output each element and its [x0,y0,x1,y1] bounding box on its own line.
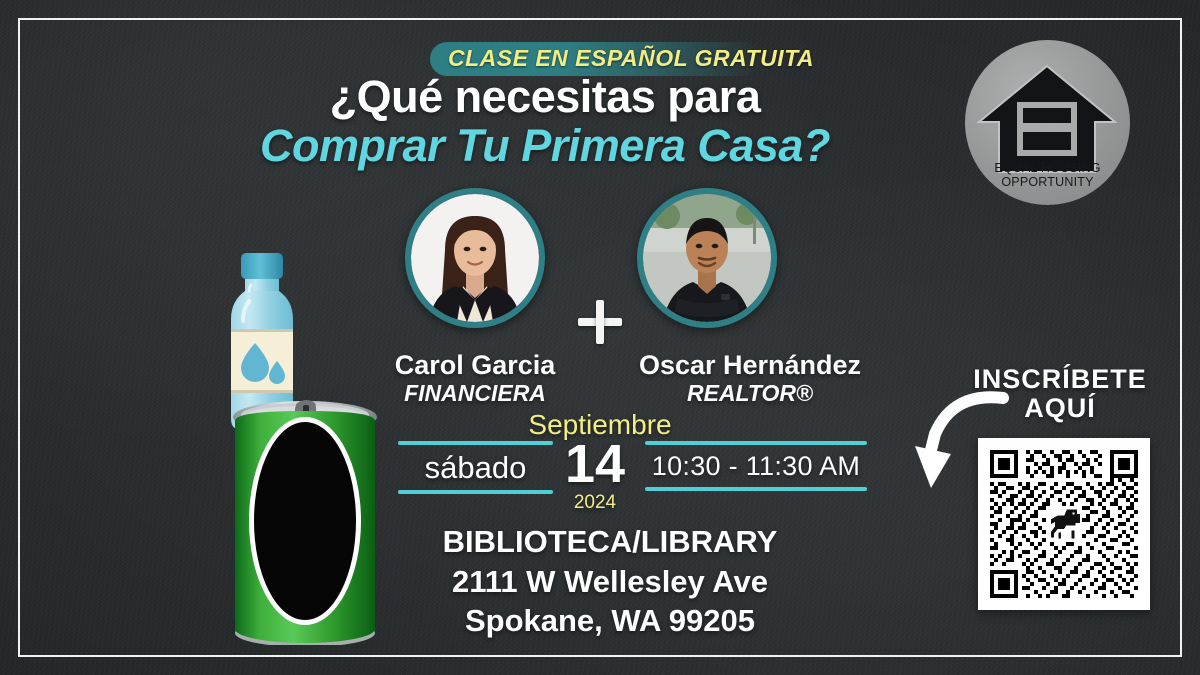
rule-bottom-dayname [398,490,553,494]
food-and-drinks-illustration: Comida y Bebidas incluidas! [205,245,405,645]
dinosaur-icon [1046,506,1082,542]
registration-qr-code[interactable] [978,438,1150,610]
soda-can-icon [233,400,377,645]
avatar-image-carol [411,194,539,322]
venue-line-3: Spokane, WA 99205 [360,601,860,641]
venue-address: BIBLIOTECA/LIBRARY 2111 W Wellesley Ave … [360,522,860,641]
eho-line-2: OPPORTUNITY [965,176,1130,190]
venue-line-2: 2111 W Wellesley Ave [360,562,860,602]
banner-label: CLASE EN ESPAÑOL GRATUITA [448,45,848,72]
presenter-name-2: Oscar Hernández [600,350,900,381]
presenter-role-2: REALTOR® [600,380,900,407]
event-day-number: 14 [545,437,645,491]
event-day-name: sábado [398,445,553,490]
event-time: 10:30 - 11:30 AM [645,445,867,487]
event-day-name-block: sábado [398,441,553,494]
avatar-oscar-hernandez [637,188,777,328]
venue-line-1: BIBLIOTECA/LIBRARY [360,522,860,562]
equal-housing-opportunity-logo: EQUAL HOUSING OPPORTUNITY [965,40,1130,205]
event-year: 2024 [545,492,645,514]
event-flyer: CLASE EN ESPAÑOL GRATUITA ¿Qué necesitas… [0,0,1200,675]
plus-separator-icon [578,300,622,344]
rule-bottom-time [645,487,867,491]
event-time-block: 10:30 - 11:30 AM [645,441,867,491]
house-icon [979,66,1115,172]
avatar-image-oscar [643,194,771,322]
avatar-carol-garcia [405,188,545,328]
equal-housing-logo-text: EQUAL HOUSING OPPORTUNITY [965,162,1130,189]
eho-line-1: EQUAL HOUSING [965,162,1130,176]
